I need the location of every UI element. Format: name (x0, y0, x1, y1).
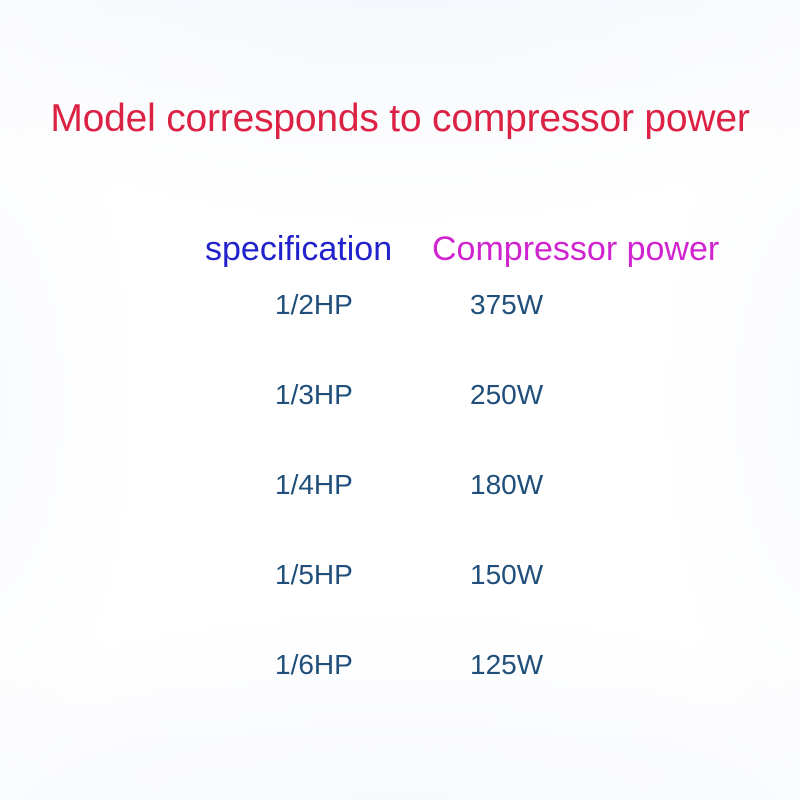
cell-specification: 1/4HP (275, 466, 353, 504)
table-row: 1/3HP 250W (0, 376, 800, 466)
cell-compressor-power: 150W (470, 556, 543, 594)
column-header-compressor-power: Compressor power (432, 228, 719, 270)
cell-specification: 1/5HP (275, 556, 353, 594)
page-title: Model corresponds to compressor power (0, 96, 800, 142)
cell-compressor-power: 180W (470, 466, 543, 504)
cell-specification: 1/6HP (275, 646, 353, 684)
column-header-specification: specification (205, 228, 392, 270)
table-row: 1/5HP 150W (0, 556, 800, 646)
cell-compressor-power: 250W (470, 376, 543, 414)
table-row: 1/6HP 125W (0, 646, 800, 736)
cell-compressor-power: 125W (470, 646, 543, 684)
table-body: 1/2HP 375W 1/3HP 250W 1/4HP 180W 1/5HP 1… (0, 286, 800, 736)
table-row: 1/4HP 180W (0, 466, 800, 556)
cell-specification: 1/3HP (275, 376, 353, 414)
table-header-row: specification Compressor power (0, 228, 800, 272)
cell-specification: 1/2HP (275, 286, 353, 324)
table-row: 1/2HP 375W (0, 286, 800, 376)
infographic-canvas: Model corresponds to compressor power sp… (0, 0, 800, 800)
cell-compressor-power: 375W (470, 286, 543, 324)
